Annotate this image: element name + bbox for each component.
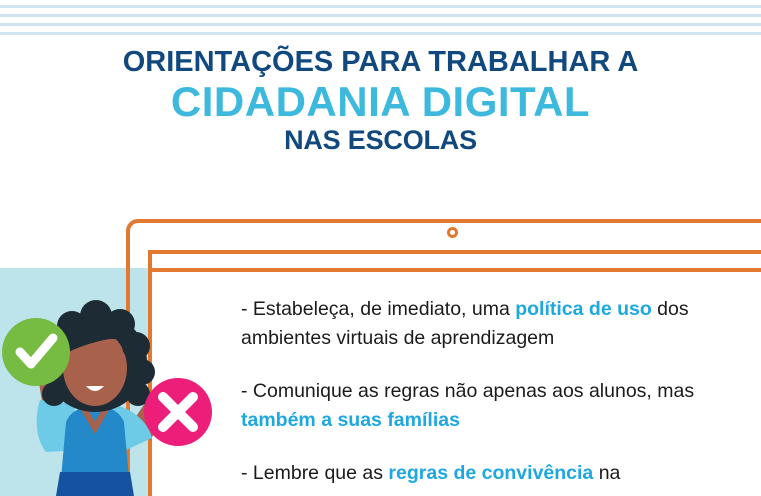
x-circle-icon: [144, 378, 212, 446]
bullet-text-prefix: - Estabeleça, de imediato, uma: [241, 298, 515, 320]
bullet-text-highlight: política de uso: [515, 298, 652, 320]
bullet-text-suffix: na: [593, 462, 620, 484]
bullet-text-prefix: - Lembre que as: [241, 462, 388, 484]
list-item: - Comunique as regras não apenas aos alu…: [241, 377, 721, 435]
top-decorative-rules: [0, 0, 761, 34]
tablet-screen-titlebar: [148, 250, 761, 272]
skirt: [56, 472, 134, 496]
decorative-rule: [0, 23, 761, 26]
bullet-text-highlight: regras de convivência: [388, 462, 593, 484]
guidelines-list: - Estabeleça, de imediato, uma política …: [241, 295, 721, 488]
illustration-woman-approve-reject: [0, 300, 215, 496]
bullet-text-prefix: - Comunique as regras não apenas aos alu…: [241, 380, 694, 402]
check-circle-icon: [2, 318, 70, 386]
title-line-accent: CIDADANIA DIGITAL: [0, 80, 761, 123]
decorative-rule: [0, 32, 761, 35]
list-item: - Lembre que as regras de convivência na: [241, 459, 721, 488]
title-line-primary: ORIENTAÇÕES PARA TRABALHAR A: [0, 48, 761, 78]
title-line-secondary: NAS ESCOLAS: [0, 127, 761, 155]
decorative-rule: [0, 5, 761, 8]
camera-dot-icon: [447, 227, 458, 238]
poster-page: ORIENTAÇÕES PARA TRABALHAR A CIDADANIA D…: [0, 0, 761, 496]
list-item: - Estabeleça, de imediato, uma política …: [241, 295, 721, 353]
page-title: ORIENTAÇÕES PARA TRABALHAR A CIDADANIA D…: [0, 48, 761, 155]
bullet-text-highlight: também a suas famílias: [241, 409, 460, 431]
decorative-rule: [0, 14, 761, 17]
